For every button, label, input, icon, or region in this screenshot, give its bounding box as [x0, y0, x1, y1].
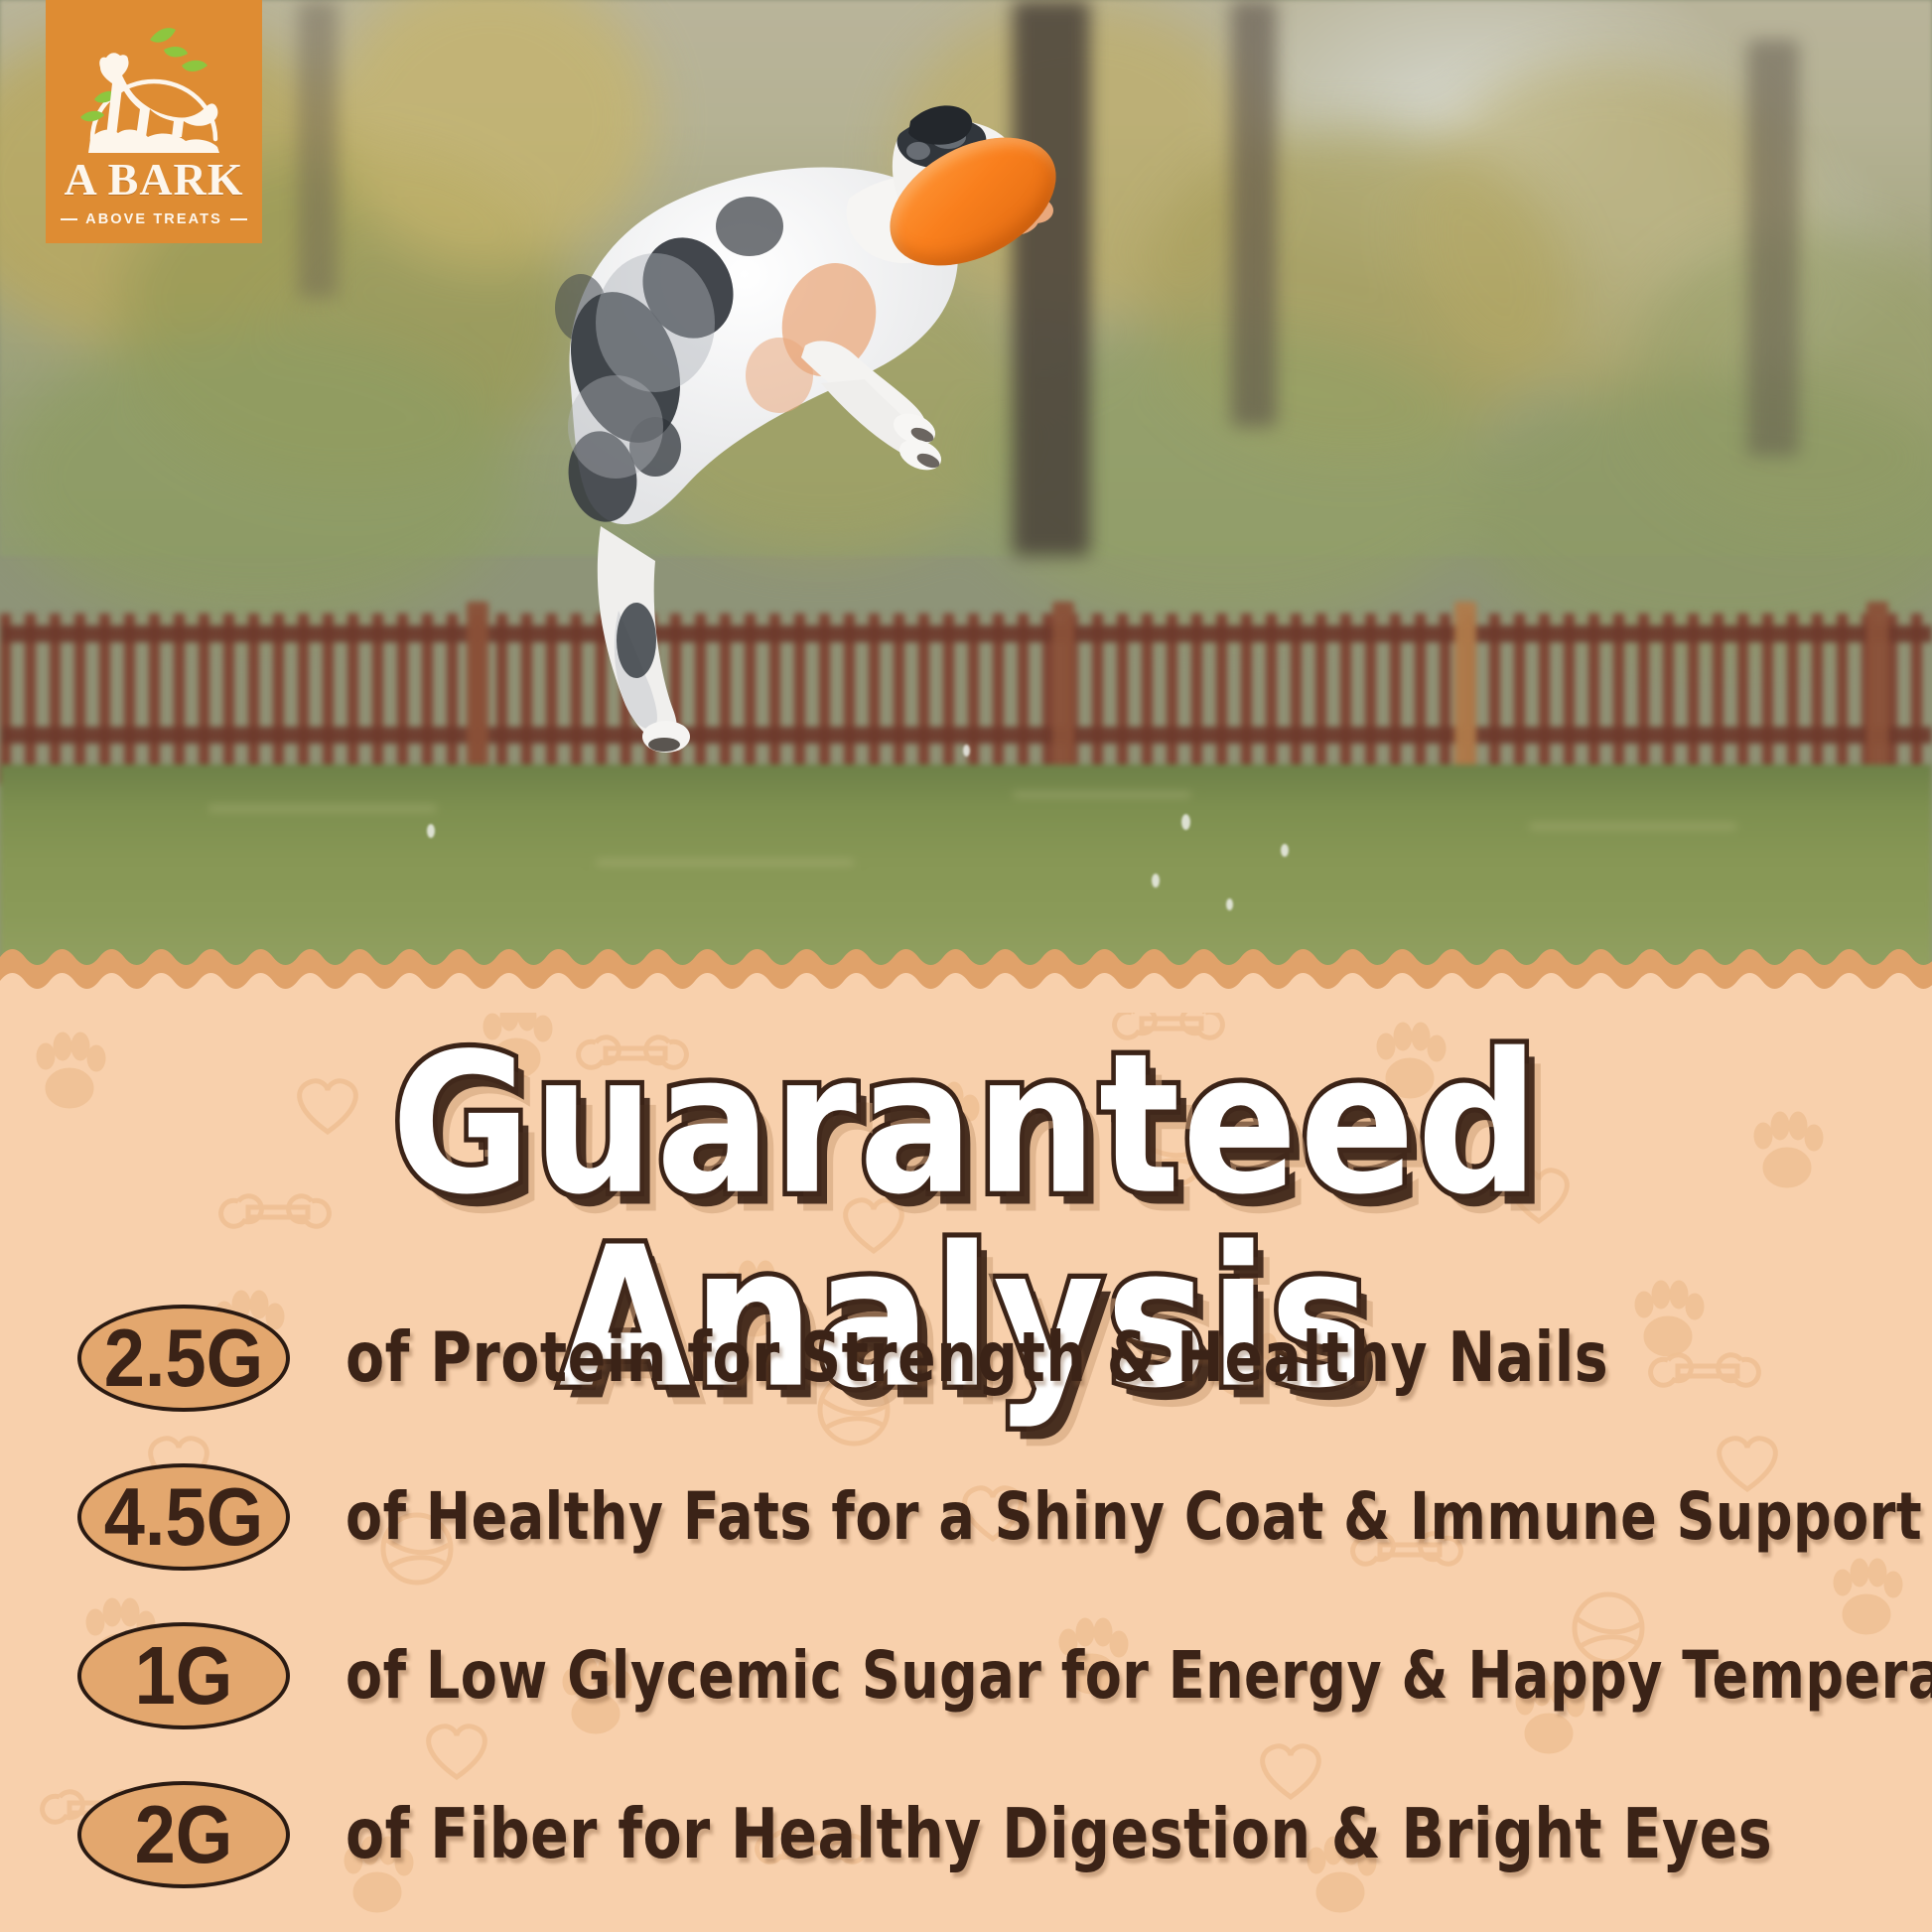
fact-description: of Fiber for Healthy Digestion & Bright … — [345, 1800, 1772, 1869]
tagline-dash-left — [61, 218, 77, 221]
amount-value: 2.5G — [104, 1317, 263, 1400]
amount-value: 4.5G — [104, 1476, 263, 1559]
fact-row: 2G of Fiber for Healthy Digestion & Brig… — [0, 1755, 1932, 1914]
amount-badge: 1G — [77, 1622, 290, 1729]
amount-value: 1G — [135, 1635, 233, 1718]
tree-trunk — [298, 0, 338, 298]
guaranteed-analysis-poster: A BARK ABOVE TREATS Guaranteed Analysis … — [0, 0, 1932, 1932]
water-droplet — [1281, 844, 1289, 857]
water-droplet — [1152, 874, 1160, 888]
nutrition-facts-list: 2.5G of Protein for Strength & Healthy N… — [0, 1279, 1932, 1914]
hero-photo — [0, 0, 1932, 978]
fact-row: 4.5G of Healthy Fats for a Shiny Coat & … — [0, 1438, 1932, 1596]
water-droplet — [1226, 898, 1233, 910]
tagline-dash-right — [230, 218, 247, 221]
amount-badge: 2G — [77, 1781, 290, 1888]
water-droplet — [1181, 814, 1190, 830]
wavy-divider — [0, 933, 1932, 1013]
fact-description: of Low Glycemic Sugar for Energy & Happy… — [345, 1643, 1932, 1709]
tree-trunk — [1231, 0, 1277, 427]
fact-description: of Healthy Fats for a Shiny Coat & Immun… — [345, 1484, 1922, 1550]
tree-trunk — [1747, 40, 1799, 457]
amount-value: 2G — [135, 1794, 233, 1876]
brand-logo-badge[interactable]: A BARK ABOVE TREATS — [46, 0, 262, 243]
brand-tagline-wrap: ABOVE TREATS — [61, 211, 247, 227]
water-droplet — [427, 824, 435, 838]
brand-tagline: ABOVE TREATS — [85, 211, 222, 227]
amount-badge: 2.5G — [77, 1305, 290, 1412]
fact-row: 1G of Low Glycemic Sugar for Energy & Ha… — [0, 1596, 1932, 1755]
fact-row: 2.5G of Protein for Strength & Healthy N… — [0, 1279, 1932, 1438]
brand-name: A BARK — [64, 157, 243, 203]
howling-dog-silhouette-icon — [65, 22, 243, 161]
amount-badge: 4.5G — [77, 1463, 290, 1571]
fact-description: of Protein for Strength & Healthy Nails — [345, 1323, 1608, 1393]
